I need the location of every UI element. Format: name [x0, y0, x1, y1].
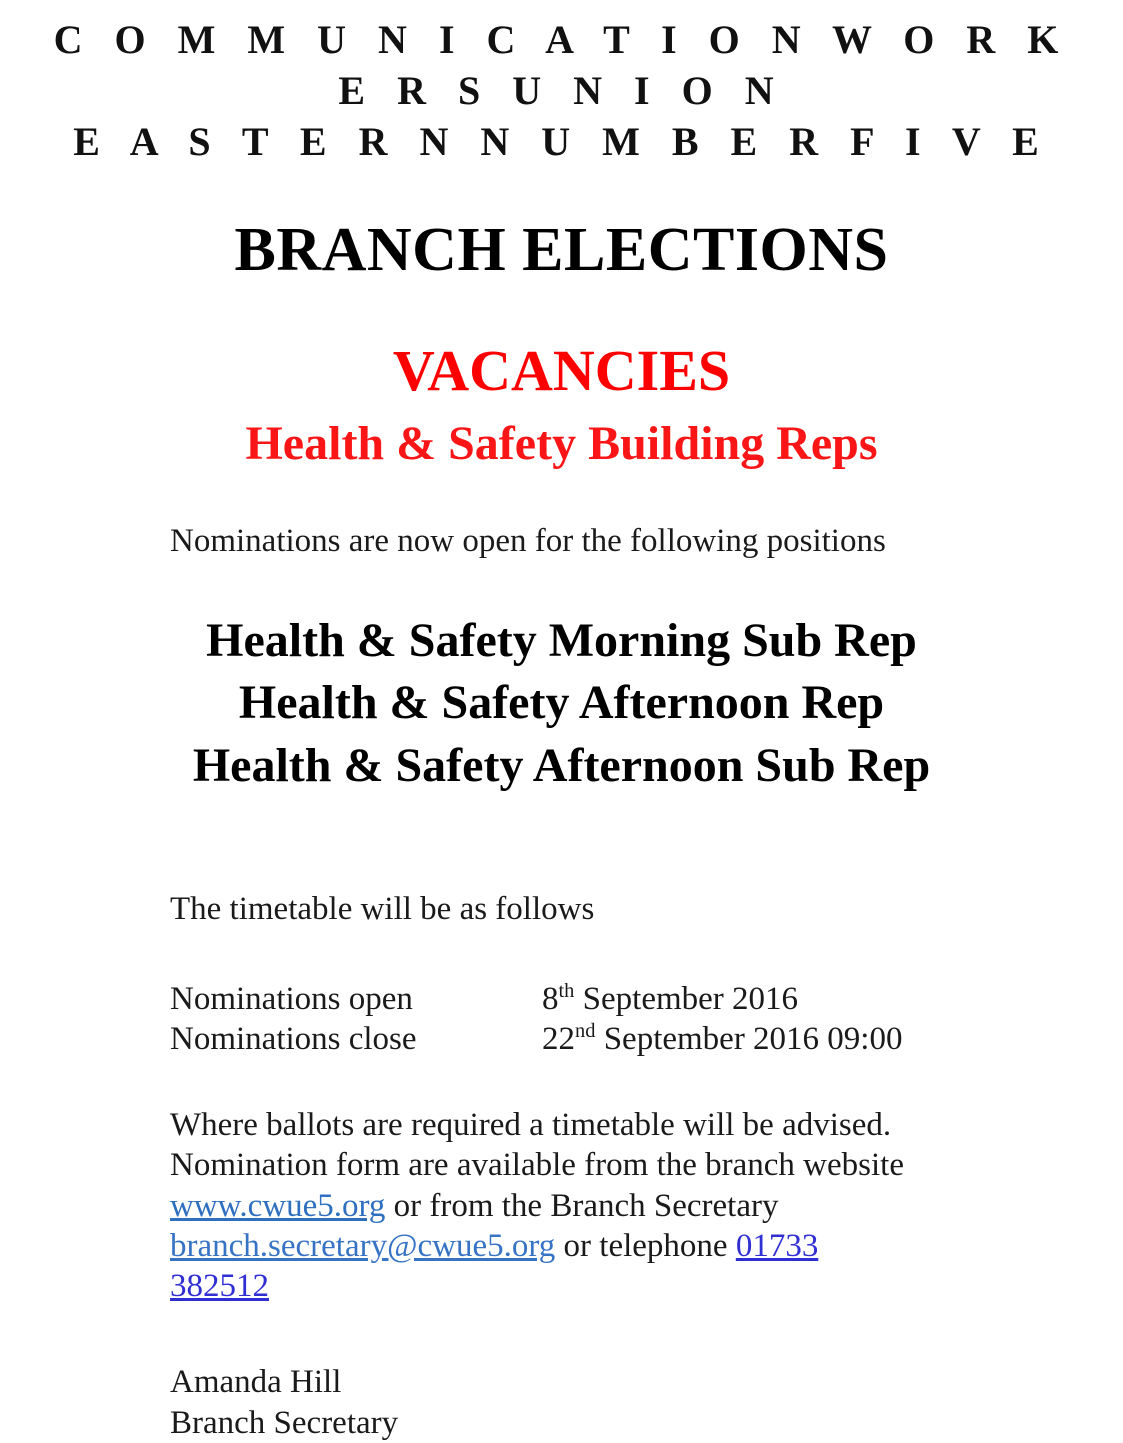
timetable-label: Nominations close: [170, 1019, 542, 1059]
timetable-intro: The timetable will be as follows: [170, 890, 1123, 930]
instructions-line-2: Nomination form are available from the b…: [170, 1145, 960, 1185]
timetable: Nominations open 8th September 2016 Nomi…: [170, 979, 1123, 1060]
vacancies-heading: VACANCIES: [0, 341, 1123, 402]
phone-link-part2[interactable]: 382512: [170, 1268, 269, 1304]
timetable-date-rest: September 2016 09:00: [595, 1021, 902, 1057]
table-row: Nominations open 8th September 2016: [170, 979, 1123, 1019]
masthead: C O M M U N I C A T I O N W O R K E R S …: [0, 0, 1123, 168]
timetable-label: Nominations open: [170, 979, 542, 1019]
timetable-value: 22nd September 2016 09:00: [542, 1019, 902, 1059]
list-item: Health & Safety Afternoon Rep: [0, 672, 1123, 734]
list-item: Health & Safety Morning Sub Rep: [0, 610, 1123, 672]
masthead-line-2: E R S U N I O N: [0, 65, 1123, 116]
signature-name: Amanda Hill: [170, 1362, 1123, 1402]
timetable-day: 8: [542, 981, 559, 1017]
instructions-line-4: branch.secretary@cwue5.org or telephone …: [170, 1226, 960, 1266]
instructions-after-email: or telephone: [555, 1228, 736, 1264]
timetable-ordinal: nd: [575, 1020, 595, 1042]
list-item: Health & Safety Afternoon Sub Rep: [0, 735, 1123, 797]
masthead-line-1: C O M M U N I C A T I O N W O R K: [0, 14, 1123, 65]
instructions-paragraph: Where ballots are required a timetable w…: [170, 1105, 960, 1306]
timetable-value: 8th September 2016: [542, 979, 798, 1019]
vacancies-subheading: Health & Safety Building Reps: [0, 418, 1123, 471]
instructions-line-5: 382512: [170, 1266, 960, 1306]
instructions-line-1: Where ballots are required a timetable w…: [170, 1105, 960, 1145]
email-link[interactable]: branch.secretary@cwue5.org: [170, 1228, 555, 1264]
table-row: Nominations close 22nd September 2016 09…: [170, 1019, 1123, 1059]
instructions-line-3: www.cwue5.org or from the Branch Secreta…: [170, 1186, 960, 1226]
nominations-intro: Nominations are now open for the followi…: [170, 522, 1123, 562]
page-title: BRANCH ELECTIONS: [0, 218, 1123, 283]
timetable-ordinal: th: [559, 980, 575, 1002]
timetable-date-rest: September 2016: [574, 981, 798, 1017]
document-page: C O M M U N I C A T I O N W O R K E R S …: [0, 0, 1123, 1418]
signature-block: Amanda Hill Branch Secretary: [170, 1362, 1123, 1443]
phone-link-part1[interactable]: 01733: [736, 1228, 819, 1264]
signature-role: Branch Secretary: [170, 1403, 1123, 1443]
instructions-after-website: or from the Branch Secretary: [385, 1188, 778, 1224]
masthead-line-3: E A S T E R N N U M B E R F I V E: [0, 116, 1123, 167]
timetable-day: 22: [542, 1021, 575, 1057]
positions-list: Health & Safety Morning Sub Rep Health &…: [0, 610, 1123, 797]
website-link[interactable]: www.cwue5.org: [170, 1188, 385, 1224]
